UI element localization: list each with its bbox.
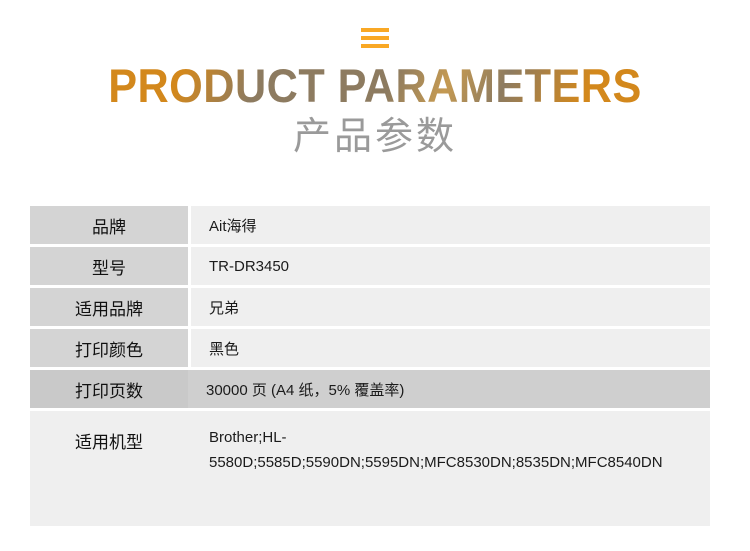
table-row: 型号 TR-DR3450 bbox=[30, 247, 710, 285]
hamburger-bar-2 bbox=[361, 36, 389, 40]
product-parameters-table: 品牌 Ait海得 型号 TR-DR3450 适用品牌 兄弟 打印颜色 黑色 打印… bbox=[30, 206, 710, 526]
spec-value-applicable-brand: 兄弟 bbox=[191, 288, 710, 326]
spec-label-applicable-brand: 适用品牌 bbox=[30, 288, 188, 326]
page-subtitle: 产品参数 bbox=[0, 117, 750, 159]
hamburger-bar-3 bbox=[361, 44, 389, 48]
spec-value-brand: Ait海得 bbox=[191, 206, 710, 244]
spec-label-compatible-models: 适用机型 bbox=[30, 411, 188, 453]
spec-value-page-yield: 30000 页 (A4 纸，5% 覆盖率) bbox=[188, 370, 710, 408]
page-header: PRODUCT PARAMETERS 产品参数 bbox=[0, 0, 750, 159]
spec-label-model: 型号 bbox=[30, 247, 188, 285]
spec-value-print-color: 黑色 bbox=[191, 329, 710, 367]
table-row: 品牌 Ait海得 bbox=[30, 206, 710, 244]
page-title: PRODUCT PARAMETERS bbox=[30, 62, 720, 111]
spec-label-page-yield: 打印页数 bbox=[30, 370, 188, 408]
spec-label-print-color: 打印颜色 bbox=[30, 329, 188, 367]
table-row: 打印颜色 黑色 bbox=[30, 329, 710, 367]
table-row: 适用机型 Brother;HL-5580D;5585D;5590DN;5595D… bbox=[30, 411, 710, 526]
spec-value-compatible-models: Brother;HL-5580D;5585D;5590DN;5595DN;MFC… bbox=[191, 411, 710, 476]
spec-label-brand: 品牌 bbox=[30, 206, 188, 244]
hamburger-icon bbox=[361, 28, 389, 48]
hamburger-bar-1 bbox=[361, 28, 389, 32]
spec-value-model: TR-DR3450 bbox=[191, 247, 710, 285]
table-row: 适用品牌 兄弟 bbox=[30, 288, 710, 326]
table-row: 打印页数 30000 页 (A4 纸，5% 覆盖率) bbox=[30, 370, 710, 408]
